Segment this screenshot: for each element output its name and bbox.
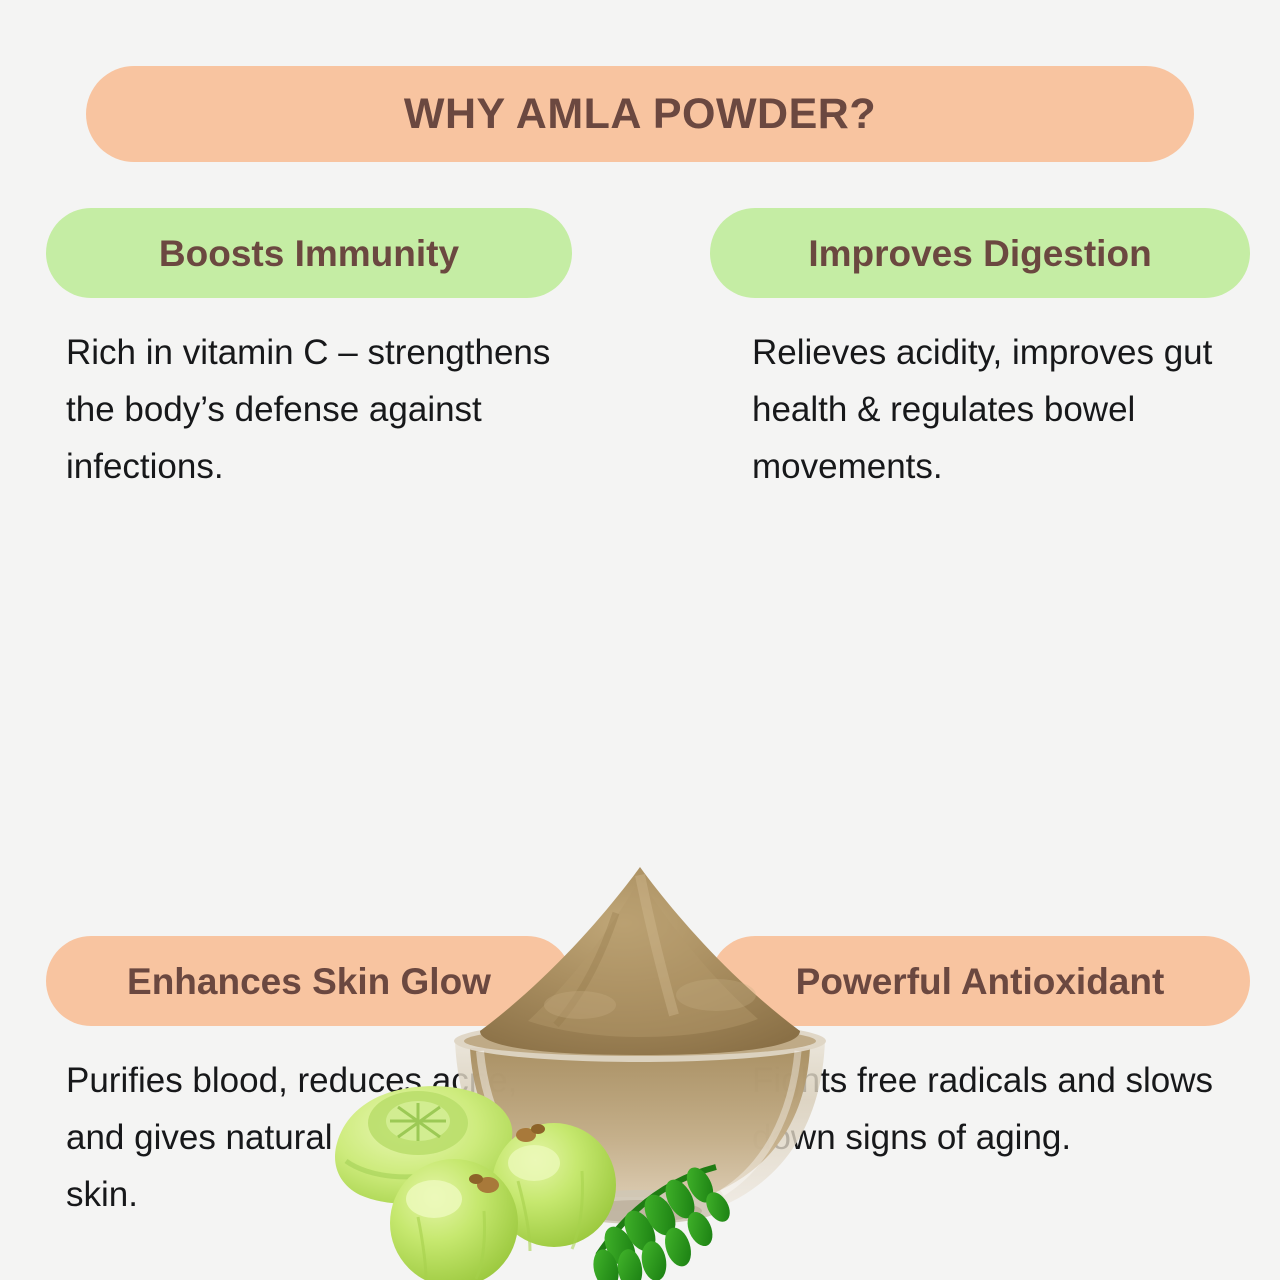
benefit-title-improves-digestion: Improves Digestion <box>808 235 1151 272</box>
header-banner: WHY AMLA POWDER? <box>86 66 1194 162</box>
amla-powder-product-photo <box>330 855 950 1280</box>
benefit-card-improves-digestion: Improves Digestion Relieves acidity, imp… <box>710 208 1250 495</box>
benefits-row-2: Enhances Skin Glow Purifies blood, reduc… <box>0 568 1280 868</box>
page-title: WHY AMLA POWDER? <box>404 90 876 139</box>
benefits-row-1: Boosts Immunity Rich in vitamin C – stre… <box>0 208 1280 568</box>
benefit-badge-boosts-immunity: Boosts Immunity <box>46 208 572 298</box>
infographic-poster: WHY AMLA POWDER? Boosts Immunity Rich in… <box>0 0 1280 1280</box>
powder-mound <box>480 867 800 1055</box>
benefit-badge-improves-digestion: Improves Digestion <box>710 208 1250 298</box>
benefit-description-improves-digestion: Relieves acidity, improves gut health & … <box>710 324 1250 495</box>
benefit-title-boosts-immunity: Boosts Immunity <box>159 235 459 272</box>
benefit-description-boosts-immunity: Rich in vitamin C – strengthens the body… <box>46 324 572 495</box>
benefit-card-boosts-immunity: Boosts Immunity Rich in vitamin C – stre… <box>46 208 572 495</box>
benefits-grid: Boosts Immunity Rich in vitamin C – stre… <box>0 208 1280 868</box>
